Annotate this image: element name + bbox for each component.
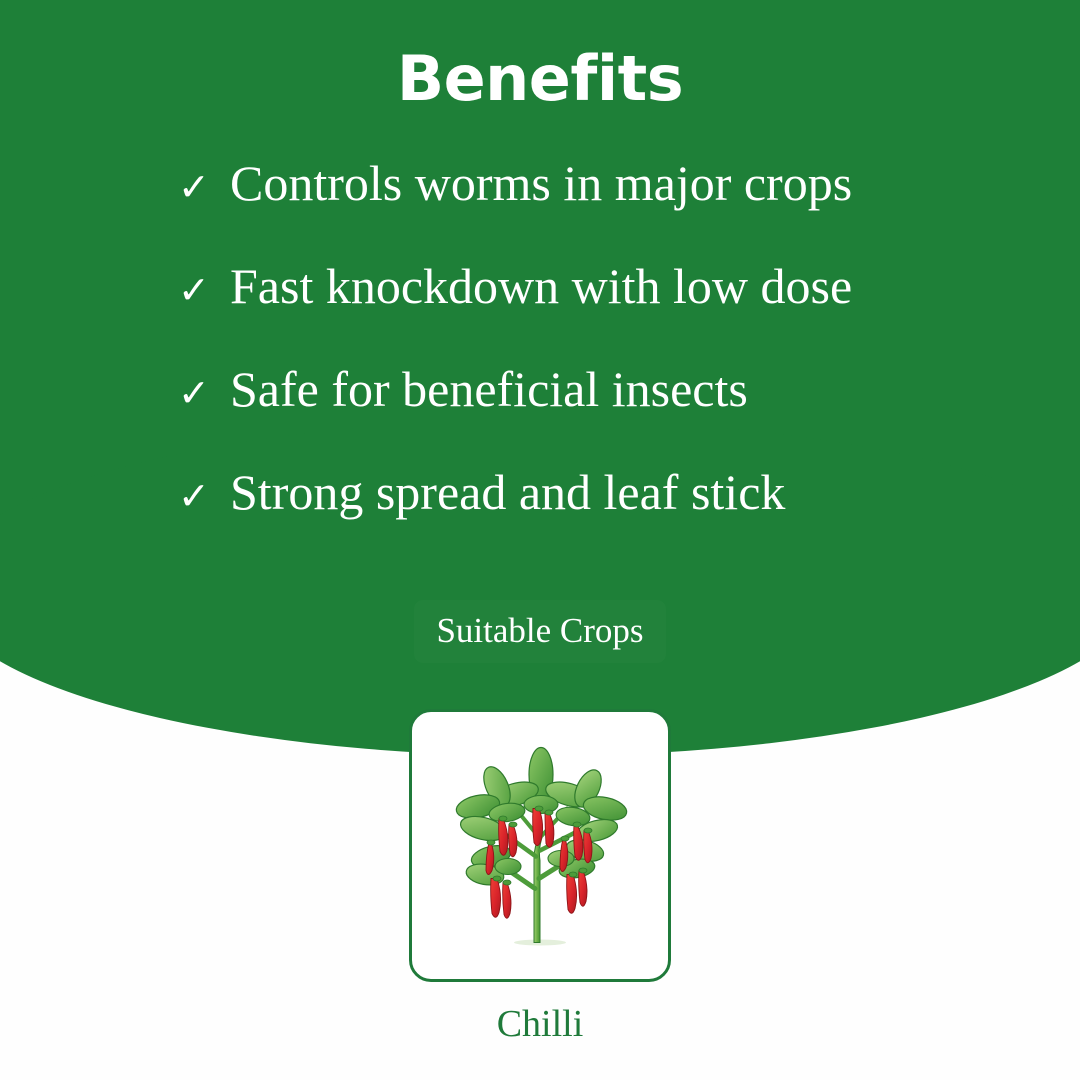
benefits-infographic: Benefits ✓ Controls worms in major crops… [0,0,1080,1080]
benefit-list-item: ✓ Controls worms in major crops [0,158,1080,261]
checkmark-icon: ✓ [178,168,230,206]
suitable-crops-section: Suitable Crops [0,600,1080,1080]
chilli-plant-icon [445,738,635,953]
crop-label-chilli: Chilli [0,1005,1080,1043]
checkmark-icon: ✓ [178,374,230,412]
benefit-list-item: ✓ Safe for beneficial insects [0,364,1080,467]
hero-content: Benefits ✓ Controls worms in major crops… [0,0,1080,560]
checkmark-icon: ✓ [178,271,230,309]
page-title: Benefits [0,46,1080,111]
benefit-label: Safe for beneficial insects [230,364,748,414]
crop-card-wrapper [0,709,1080,987]
checkmark-icon: ✓ [178,477,230,515]
benefit-list-item: ✓ Fast knockdown with low dose [0,261,1080,364]
benefit-list-item: ✓ Strong spread and leaf stick [0,467,1080,570]
crop-card-chilli[interactable] [409,709,671,982]
benefit-label: Fast knockdown with low dose [230,261,852,311]
benefit-label: Controls worms in major crops [230,158,852,208]
benefit-label: Strong spread and leaf stick [230,467,785,517]
suitable-crops-badge: Suitable Crops [414,600,665,663]
suitable-crops-badge-row: Suitable Crops [0,600,1080,663]
benefits-list: ✓ Controls worms in major crops ✓ Fast k… [0,158,1080,570]
